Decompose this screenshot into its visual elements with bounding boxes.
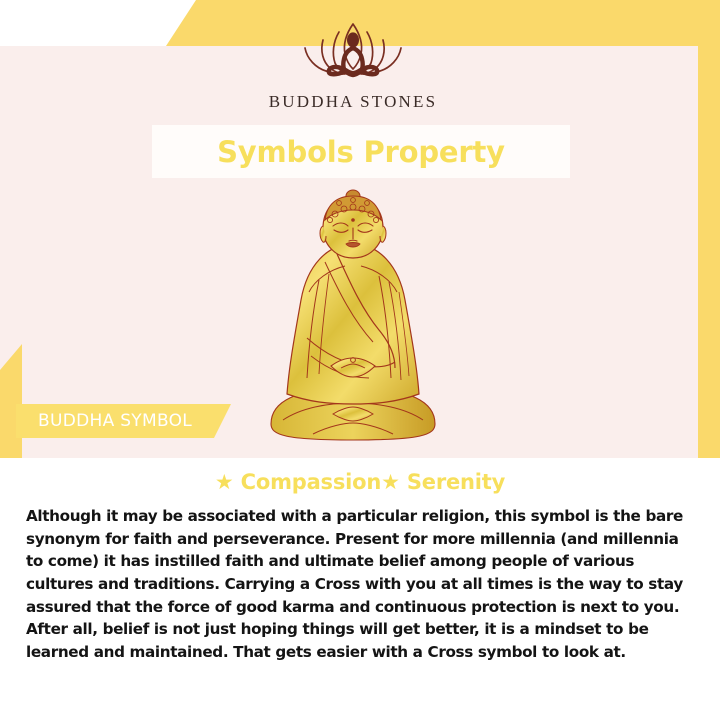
lower-content-panel: ★ Compassion★ Serenity Although it may b… (0, 458, 720, 720)
hero-ribbon-label: BUDDHA SYMBOL (38, 411, 192, 431)
brand-name: BUDDHA STONES (0, 92, 706, 112)
title-band: Symbols Property (152, 125, 570, 178)
body-paragraph: Although it may be associated with a par… (26, 505, 696, 663)
hero-ribbon: BUDDHA SYMBOL (16, 404, 231, 438)
traits-heading: ★ Compassion★ Serenity (0, 458, 720, 494)
poster-root: BUDDHA STONES Symbols Property (0, 0, 720, 720)
seated-golden-buddha-statue-icon (253, 188, 453, 450)
brand-block: BUDDHA STONES (0, 18, 706, 112)
lotus-meditation-icon (287, 18, 419, 86)
page-title: Symbols Property (217, 135, 505, 169)
